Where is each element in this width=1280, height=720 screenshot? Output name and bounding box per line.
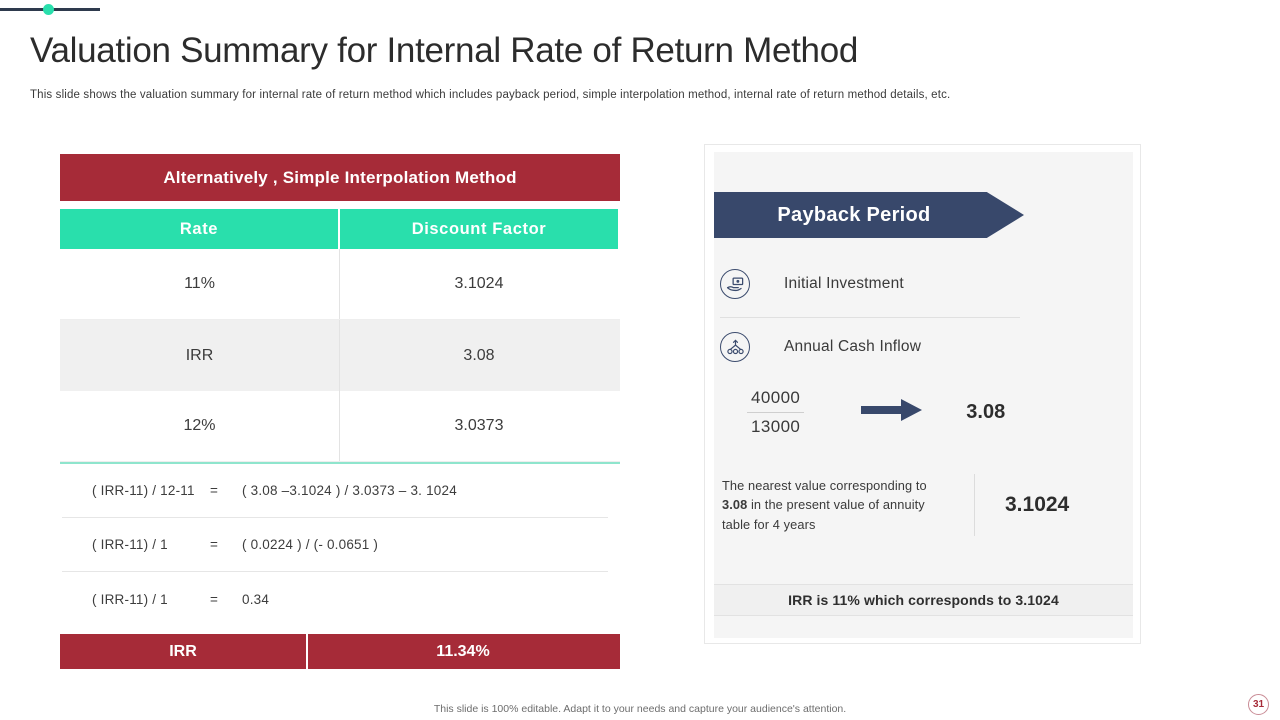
formula-lhs: ( IRR-11) / 1 (92, 537, 210, 552)
formula-row: ( IRR-11) / 1 = ( 0.0224 ) / (- 0.0651 ) (62, 518, 608, 572)
payback-item-label: Initial Investment (784, 275, 904, 293)
formula-equals: = (210, 537, 242, 552)
formula-equals: = (210, 592, 242, 607)
column-header-rate: Rate (60, 209, 340, 249)
cell-discount-factor: 3.08 (340, 320, 618, 391)
table-row: 11% 3.1024 (60, 249, 620, 320)
annuity-note-row: The nearest value corresponding to 3.08 … (722, 474, 1112, 536)
formula-rhs: ( 3.08 –3.1024 ) / 3.0373 – 3. 1024 (242, 483, 457, 498)
cash-inflow-icon (720, 332, 750, 362)
payback-fraction: 40000 13000 (747, 387, 804, 438)
formula-lhs: ( IRR-11) / 1 (92, 592, 210, 607)
payback-period-banner: Payback Period (714, 192, 1024, 238)
payback-item-initial-investment: Initial Investment (720, 269, 904, 299)
annuity-note-text: The nearest value corresponding to 3.08 … (722, 476, 952, 534)
table-header-gap (60, 201, 620, 209)
irr-result-bar: IRR 11.34% (60, 634, 620, 669)
top-accent-dot-icon (43, 4, 54, 15)
payback-item-annual-cash-inflow: Annual Cash Inflow (720, 332, 921, 362)
annuity-note-separator (974, 474, 975, 536)
cell-rate: IRR (60, 320, 340, 391)
table-column-headers: Rate Discount Factor (60, 209, 620, 249)
payback-calculation-row: 40000 13000 3.08 (747, 387, 1005, 438)
irr-conclusion-bar: IRR is 11% which corresponds to 3.1024 (714, 584, 1133, 616)
annuity-note-value: 3.1024 (1005, 493, 1069, 517)
table-header-title: Alternatively , Simple Interpolation Met… (60, 154, 620, 201)
table-row: IRR 3.08 (60, 320, 620, 391)
payback-item-label: Annual Cash Inflow (784, 338, 921, 356)
hand-money-icon (720, 269, 750, 299)
page-title: Valuation Summary for Internal Rate of R… (30, 31, 858, 71)
interpolation-table-block: Alternatively , Simple Interpolation Met… (60, 154, 620, 669)
cell-rate: 12% (60, 391, 340, 461)
column-header-discount-factor: Discount Factor (340, 209, 618, 249)
footer-note: This slide is 100% editable. Adapt it to… (0, 703, 1280, 715)
page-number-badge: 31 (1248, 694, 1269, 715)
irr-result-value: 11.34% (308, 634, 618, 669)
formula-equals: = (210, 483, 242, 498)
payback-period-card: Payback Period Initial Investment (704, 144, 1141, 644)
annuity-note-highlight: 3.08 (722, 497, 747, 512)
right-arrow-icon (861, 397, 923, 428)
formula-lhs: ( IRR-11) / 12-11 (92, 483, 210, 498)
fraction-bar (747, 412, 804, 413)
fraction-numerator: 40000 (747, 387, 804, 409)
cell-discount-factor: 3.0373 (340, 391, 618, 461)
annuity-note-text-before: The nearest value corresponding to (722, 478, 927, 493)
formula-list: ( IRR-11) / 12-11 = ( 3.08 –3.1024 ) / 3… (62, 464, 608, 626)
payback-item-divider (720, 317, 1020, 318)
formula-rhs: ( 0.0224 ) / (- 0.0651 ) (242, 537, 378, 552)
formula-row: ( IRR-11) / 1 = 0.34 (62, 572, 608, 626)
cell-discount-factor: 3.1024 (340, 249, 618, 319)
payback-calculation-result: 3.08 (966, 401, 1005, 424)
slide-root: Valuation Summary for Internal Rate of R… (0, 0, 1280, 720)
annuity-note-text-after: in the present value of annuity table fo… (722, 497, 925, 531)
cell-rate: 11% (60, 249, 340, 319)
formula-rhs: 0.34 (242, 592, 269, 607)
page-subtitle: This slide shows the valuation summary f… (30, 89, 950, 101)
fraction-denominator: 13000 (747, 416, 804, 438)
table-row: 12% 3.0373 (60, 391, 620, 462)
formula-row: ( IRR-11) / 12-11 = ( 3.08 –3.1024 ) / 3… (62, 464, 608, 518)
irr-result-label: IRR (60, 634, 308, 669)
